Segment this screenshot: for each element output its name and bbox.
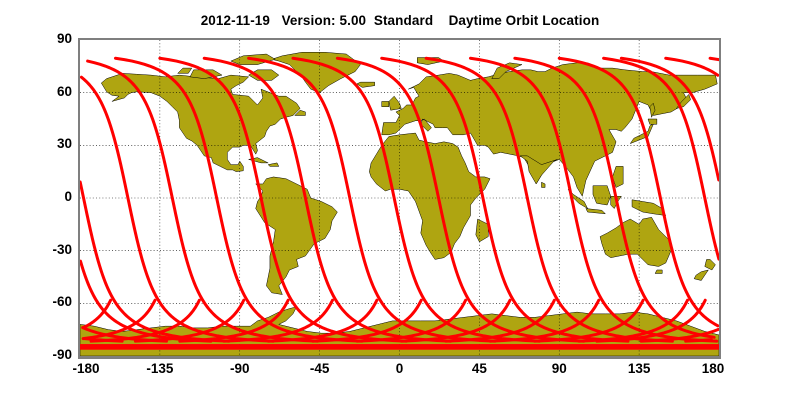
x-tick-label: 135 bbox=[628, 361, 651, 376]
x-tick-label: 0 bbox=[396, 361, 404, 376]
x-tick-label: 90 bbox=[552, 361, 567, 376]
x-tick-label: -180 bbox=[72, 361, 99, 376]
x-tick-label: -135 bbox=[146, 361, 173, 376]
orbit-location-chart: 2012-11-19 Version: 5.00 Standard Daytim… bbox=[0, 0, 800, 400]
x-tick-label: -90 bbox=[230, 361, 250, 376]
x-tick-label: 45 bbox=[472, 361, 487, 376]
x-tick-label: 180 bbox=[702, 361, 725, 376]
x-tick-label: -45 bbox=[310, 361, 330, 376]
x-axis: -180-135-90-4504590135180 bbox=[0, 0, 800, 400]
